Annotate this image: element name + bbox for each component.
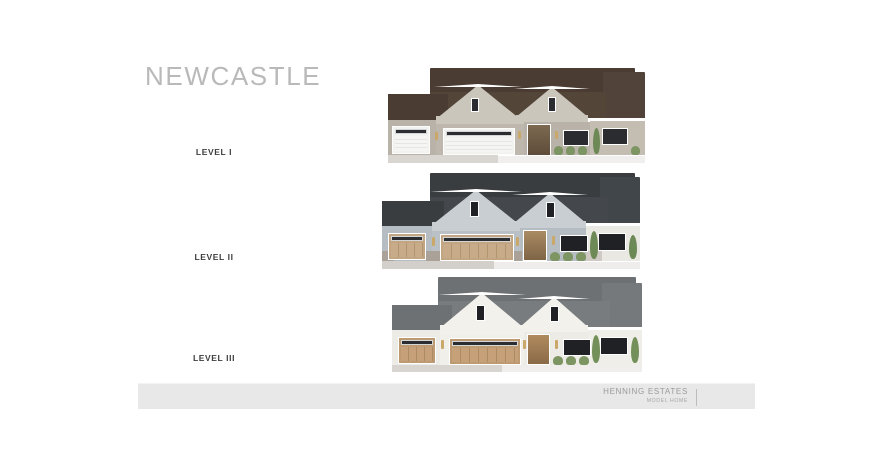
garage-gable-trim: [438, 292, 526, 295]
shrub: [579, 356, 589, 365]
house-elevation-scene-2: [382, 171, 640, 269]
house-elevation-scene-1: [388, 66, 645, 163]
house-elevation-scene-3: [392, 275, 642, 372]
shrub: [631, 146, 640, 155]
front-door: [527, 124, 551, 156]
right-wing-trim: [590, 118, 645, 121]
garage-door-window: [401, 340, 433, 345]
shrub-tree: [593, 128, 600, 154]
garage-door-single: [388, 233, 426, 260]
model-home-label: MODEL HOME: [603, 397, 688, 405]
garage-door-window: [452, 341, 518, 346]
gable-window-right: [546, 202, 555, 218]
entry-gable-trim: [518, 296, 590, 299]
sconce-light: [523, 340, 526, 349]
driveway: [382, 261, 494, 269]
sconce-light: [432, 237, 435, 246]
shrub-tree: [590, 231, 598, 259]
garage-door-panels: [401, 347, 433, 361]
front-door: [523, 230, 547, 261]
level-label-3: LEVEL III: [139, 353, 289, 363]
page-title: NEWCASTLE: [145, 61, 321, 92]
sconce-light: [435, 132, 438, 140]
shrub: [578, 146, 587, 155]
shrub-tree: [629, 235, 637, 259]
front-window-group: [563, 339, 591, 356]
sconce-light: [518, 131, 521, 139]
side-window-group: [598, 233, 626, 251]
footer-divider: [696, 389, 697, 406]
front-window-group: [560, 235, 588, 252]
front-window-group: [563, 130, 589, 146]
shrub: [563, 252, 573, 261]
driveway: [392, 364, 502, 372]
elevation-rendering-level-1: [388, 66, 645, 163]
driveway: [388, 155, 498, 163]
presentation-slide: NEWCASTLE LEVEL I: [0, 0, 890, 471]
shrub: [566, 146, 575, 155]
sconce-light: [555, 131, 558, 139]
garage-door-window: [395, 129, 427, 134]
shrub: [576, 252, 586, 261]
right-wing-trim: [588, 327, 642, 330]
sconce-light: [441, 340, 444, 349]
shrub: [566, 356, 576, 365]
footer-band: HENNING ESTATES MODEL HOME: [138, 383, 755, 409]
gable-window-left: [470, 201, 479, 217]
elevation-rendering-level-2: [382, 171, 640, 269]
shrub: [553, 356, 563, 365]
garage-door-window: [391, 236, 423, 241]
footer-text-group: HENNING ESTATES MODEL HOME: [603, 386, 688, 405]
garage-door-single: [392, 126, 430, 154]
elevation-rendering-level-3: [392, 275, 642, 372]
side-window-group: [602, 128, 628, 145]
garage-door-double: [449, 338, 521, 365]
sconce-light: [555, 340, 558, 349]
entry-gable-trim: [514, 86, 590, 89]
level-label-1: LEVEL I: [139, 147, 289, 157]
gable-window-right: [550, 306, 559, 322]
gable-window-left: [471, 98, 479, 112]
garage-door-window: [443, 237, 511, 242]
front-door: [527, 334, 550, 365]
level-label-2: LEVEL II: [139, 252, 289, 262]
shrub: [554, 146, 563, 155]
right-wing-trim: [586, 223, 640, 226]
garage-gable-trim: [430, 189, 522, 192]
garage-door-panels: [446, 138, 512, 152]
garage-door-double: [440, 234, 514, 261]
sconce-light: [516, 237, 519, 246]
garage-door-panels: [443, 244, 511, 258]
shrub-tree: [592, 335, 600, 363]
garage-door-panels: [391, 243, 423, 257]
garage-door-window: [446, 131, 512, 136]
gable-window-right: [548, 97, 556, 112]
garage-door-panels: [452, 348, 518, 362]
side-window-group: [600, 337, 628, 355]
stone-veneer: [426, 251, 440, 261]
garage-gable-trim: [434, 84, 522, 87]
sconce-light: [552, 236, 555, 245]
gable-window-left: [476, 305, 485, 321]
garage-door-panels: [395, 136, 427, 151]
shrub: [550, 252, 560, 261]
entry-gable-trim: [512, 192, 588, 195]
garage-door-single: [398, 337, 436, 364]
shrub-tree: [631, 337, 639, 363]
garage-door-double: [443, 128, 515, 155]
estate-name: HENNING ESTATES: [603, 386, 688, 397]
